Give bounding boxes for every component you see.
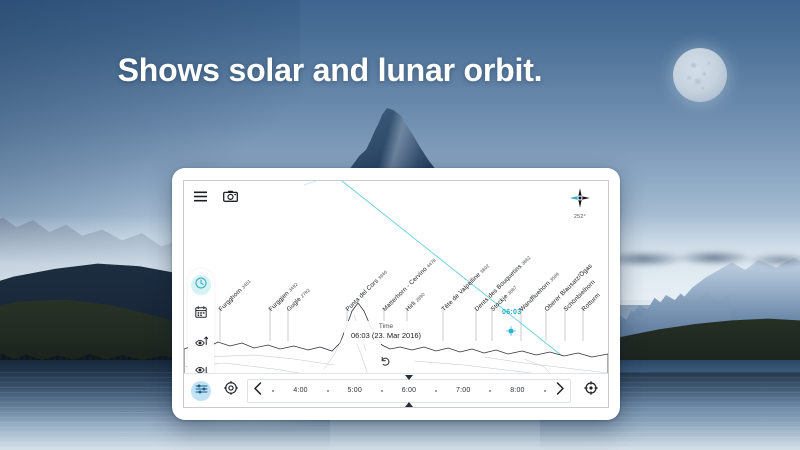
bottombar-sliders-button[interactable] (184, 381, 218, 401)
time-tick-label: 5:00 (348, 387, 362, 394)
time-tick-label: 7:00 (456, 387, 470, 394)
sun-position-marker-icon[interactable] (506, 323, 515, 332)
undo-arrow-icon[interactable] (380, 354, 391, 372)
gear-icon (224, 381, 238, 400)
sidebar-item-sunrise-tool[interactable] (191, 333, 211, 353)
time-cursor-top-icon (405, 375, 413, 380)
time-tick-label: 8:00 (510, 387, 524, 394)
tick-dot (327, 390, 329, 392)
next-time-button[interactable] (555, 382, 565, 400)
moon-icon (673, 48, 727, 102)
time-cursor-bottom-icon (405, 402, 413, 407)
tooltip-title: Time (351, 323, 421, 331)
time-ticks: 4:00 5:00 6:00 7:00 8:00 (263, 387, 555, 394)
tick-dot (544, 390, 546, 392)
recenter-button[interactable] (574, 381, 608, 400)
settings-button[interactable] (218, 381, 244, 400)
clock-icon (195, 276, 207, 294)
app-bottombar: 4:00 5:00 6:00 7:00 8:00 (184, 373, 608, 407)
calendar-icon (195, 305, 207, 323)
sliders-icon (195, 382, 208, 400)
time-tooltip: Time 06:03 (23. Mar 2016) (344, 321, 428, 344)
tablet-device-frame: 252° (172, 168, 620, 420)
sidebar-item-time-tool[interactable] (191, 275, 211, 295)
prev-time-button[interactable] (253, 382, 263, 400)
tick-dot (381, 390, 383, 392)
time-tick-label: 6:00 (402, 387, 416, 394)
sliders-button-bg (191, 381, 211, 401)
eye-up-icon (195, 334, 208, 352)
tick-dot (435, 390, 437, 392)
sidebar-item-date-tool[interactable] (191, 304, 211, 324)
tick-dot (272, 390, 274, 392)
tick-dot (489, 390, 491, 392)
orbit-time-label: 06:03 (502, 309, 521, 316)
time-tick-label: 4:00 (293, 387, 307, 394)
page-title: Shows solar and lunar orbit. (0, 52, 660, 89)
time-slider[interactable]: 4:00 5:00 6:00 7:00 8:00 (247, 379, 571, 403)
tooltip-value: 06:03 (23. Mar 2016) (351, 331, 421, 340)
crosshair-target-icon (584, 381, 598, 400)
app-screen: 252° (183, 180, 609, 408)
cloud-band (604, 248, 800, 270)
